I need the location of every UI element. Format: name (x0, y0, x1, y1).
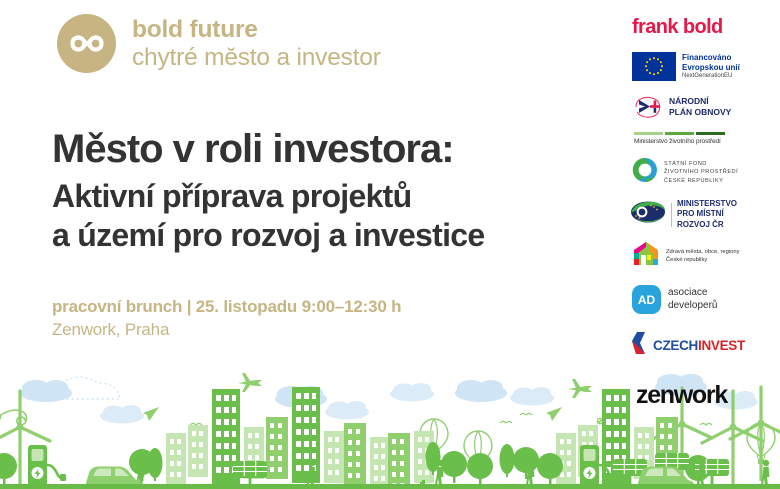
eu-line1: Financováno (682, 53, 740, 62)
mmr-mark-icon (630, 199, 666, 230)
ad-line2: developerů (668, 300, 717, 312)
eu-funding-logo: Financováno Evropskou unií NextGeneratio… (632, 52, 770, 81)
ministerstvo-pro-mistni-rozvoj-logo: MINISTERSTVO PRO MÍSTNÍ ROZVOJ ČR (630, 199, 770, 230)
sponsor-logo-rail: frank bold (612, 0, 780, 489)
czechinvest-logo: CZECHINVEST (632, 332, 770, 359)
mzp-label: Ministerstvo životního prostředí (634, 138, 770, 145)
zenwork-label: zenwork (636, 381, 727, 410)
ministerstvo-zivotniho-prostredi-logo: Ministerstvo životního prostředí (634, 132, 770, 145)
sfzp-line3: ČESKÉ REPUBLIKY (664, 177, 738, 185)
infinity-icon (57, 14, 116, 73)
event-meta: pracovní brunch | 25. listopadu 9:00–12:… (52, 296, 401, 342)
brand-lockup: bold future chytré město a investor (57, 14, 381, 73)
mmr-line3: ROZVOJ ČR (677, 220, 737, 230)
sfzp-line1: STÁTNÍ FOND (664, 160, 738, 168)
npo-mark-icon (632, 94, 664, 120)
czechinvest-part1: CZECH (653, 338, 698, 353)
headline-block: Město v roli investora: Aktivní příprava… (52, 128, 612, 255)
page-title: Město v roli investora: (52, 128, 612, 171)
mmr-line1: MINISTERSTVO (677, 199, 737, 209)
headline-sub-line2: a území pro rozvoj a investice (52, 216, 612, 255)
mzp-bars-icon (634, 132, 770, 135)
zdrava-mesta-house-icon (631, 241, 661, 271)
czechinvest-mark-icon (632, 332, 649, 359)
zenwork-logo: zenwork (636, 381, 770, 410)
eu-line3: NextGenerationEU (682, 73, 740, 80)
frank-bold-logo: frank bold (632, 16, 770, 39)
czechinvest-part2: INVEST (698, 338, 745, 353)
zdrava-mesta-logo: Zdravá města, obce, regiony České republ… (631, 241, 770, 271)
event-details: pracovní brunch | 25. listopadu 9:00–12:… (52, 296, 401, 319)
brand-title: bold future (132, 16, 381, 43)
ad-line1: asociace (668, 287, 717, 299)
npo-line1: NÁRODNÍ (669, 96, 731, 107)
headline-sub-line1: Aktivní příprava projektů (52, 177, 612, 216)
event-venue: Zenwork, Praha (52, 319, 401, 342)
npo-line2: PLÁN OBNOVY (669, 107, 731, 118)
eu-line2: Evropskou unií (682, 63, 740, 72)
mmr-divider (671, 203, 672, 227)
ad-badge-icon: AD (632, 285, 661, 314)
brand-subtitle: chytré město a investor (132, 44, 381, 71)
zdrava-mesta-line2: České republiky (666, 256, 739, 264)
sfzp-mark-icon (632, 157, 658, 188)
eu-flag-icon (632, 52, 676, 81)
sfzp-line2: ŽIVOTNÍHO PROSTŘEDÍ (664, 168, 738, 176)
zdrava-mesta-line1: Zdravá města, obce, regiony (666, 248, 739, 256)
narodni-plan-obnovy-logo: NÁRODNÍ PLÁN OBNOVY (632, 94, 770, 120)
asociace-developeru-logo: AD asociace developerů (632, 285, 770, 314)
mmr-line2: PRO MÍSTNÍ (677, 209, 737, 219)
statni-fond-zivotniho-prostredi-logo: STÁTNÍ FOND ŽIVOTNÍHO PROSTŘEDÍ ČESKÉ RE… (632, 157, 770, 188)
event-poster: bold future chytré město a investor Měst… (0, 0, 780, 489)
